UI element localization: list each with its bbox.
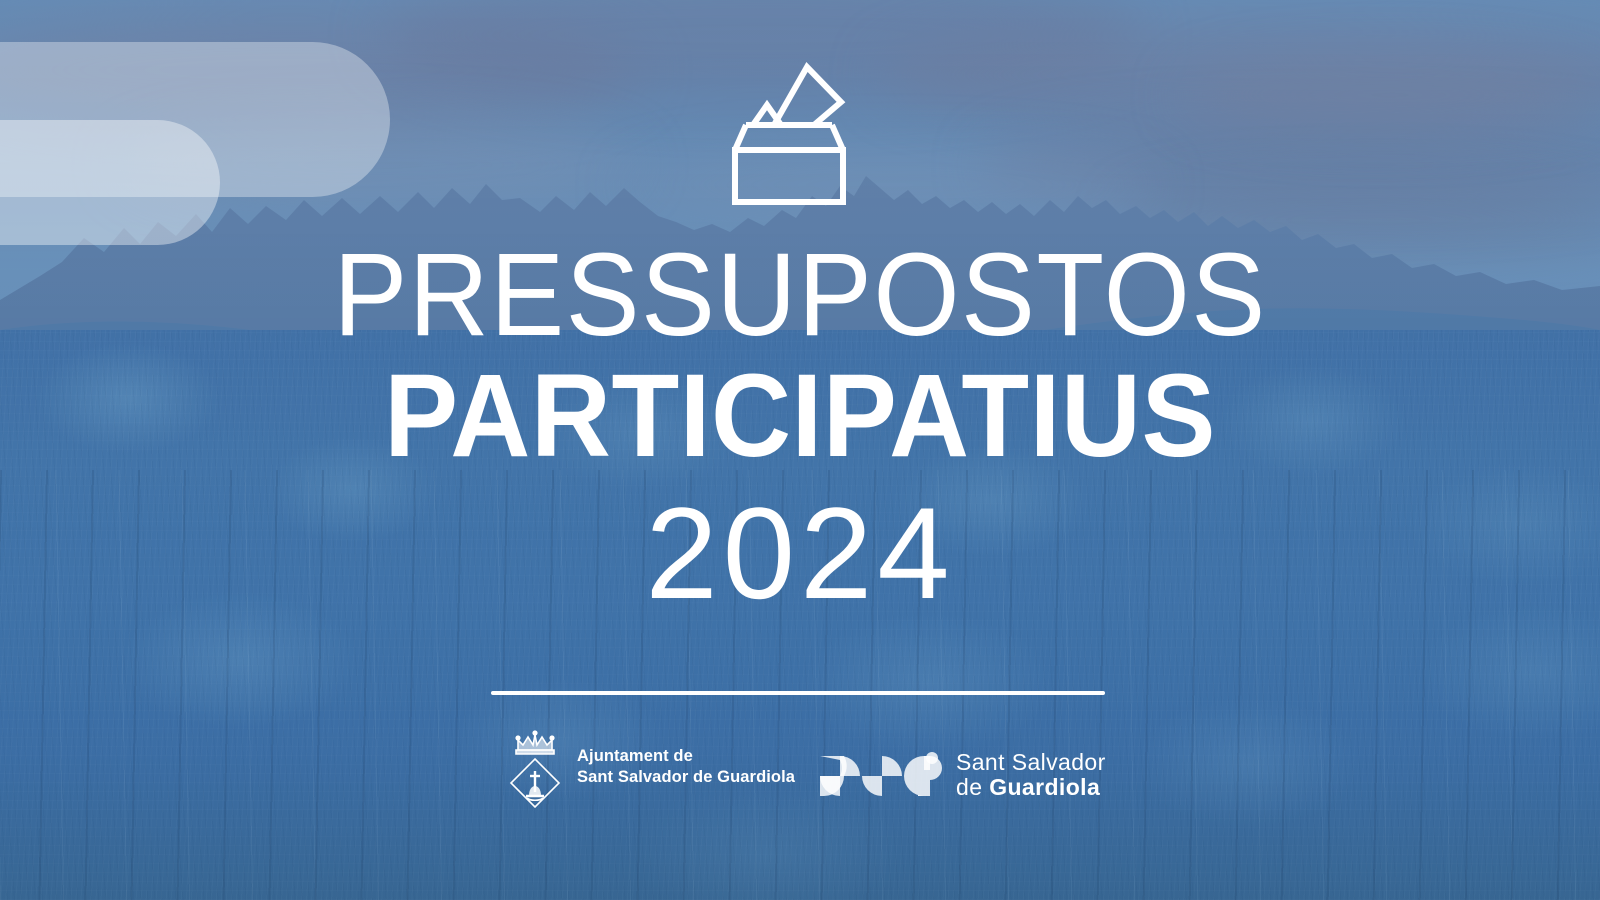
ajuntament-coat-of-arms-icon <box>505 726 565 808</box>
title-line-1: PRESSUPOSTOS <box>48 236 1552 354</box>
poster-canvas: PRESSUPOSTOS PARTICIPATIUS 2024 <box>0 0 1600 900</box>
title-block: PRESSUPOSTOS PARTICIPATIUS 2024 <box>0 236 1600 628</box>
poster-content: PRESSUPOSTOS PARTICIPATIUS 2024 <box>0 0 1600 900</box>
ballot-box-icon <box>729 58 849 206</box>
ssg-line-2-bold: Guardiola <box>989 774 1100 800</box>
ajuntament-line-2: Sant Salvador de Guardiola <box>577 767 795 788</box>
horizontal-divider <box>491 691 1105 695</box>
title-year: 2024 <box>0 478 1600 628</box>
title-line-2: PARTICIPATIUS <box>48 354 1552 478</box>
logo-ssg: Sant Salvador de Guardiola <box>818 750 1106 800</box>
ssg-monogram-icon <box>818 752 942 798</box>
ssg-line-2: de Guardiola <box>956 775 1106 800</box>
logo-ajuntament: Ajuntament de Sant Salvador de Guardiola <box>505 726 795 808</box>
ssg-line-2-light: de <box>956 774 989 800</box>
ssg-label: Sant Salvador de Guardiola <box>956 750 1106 800</box>
ajuntament-line-1: Ajuntament de <box>577 746 795 767</box>
logo-row: Ajuntament de Sant Salvador de Guardiola <box>0 726 1600 826</box>
ajuntament-label: Ajuntament de Sant Salvador de Guardiola <box>577 746 795 788</box>
ssg-line-1: Sant Salvador <box>956 750 1106 775</box>
